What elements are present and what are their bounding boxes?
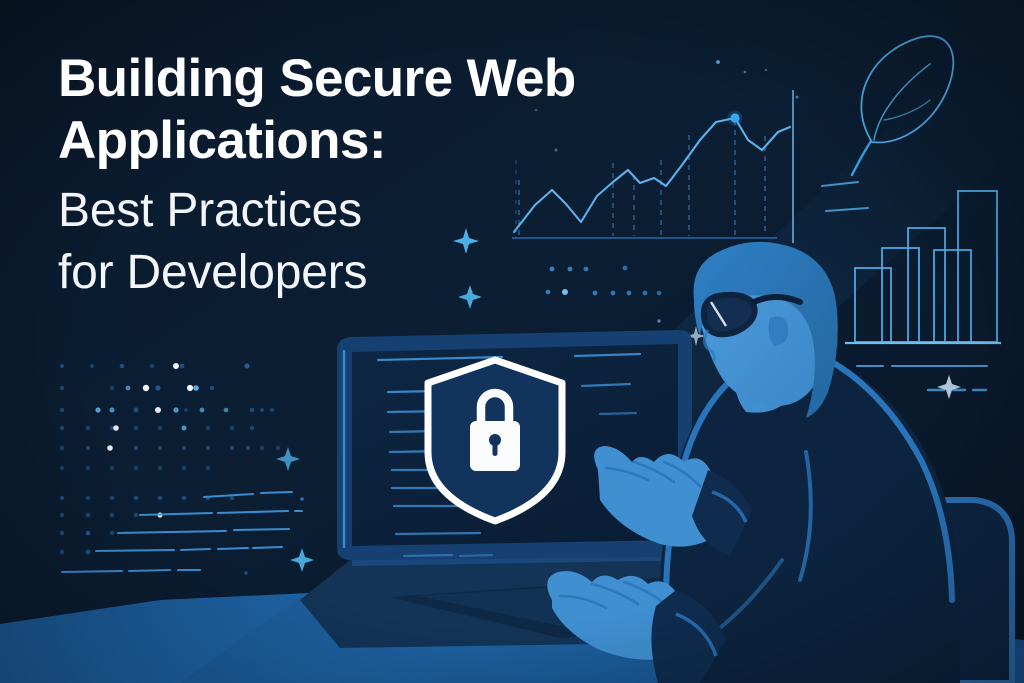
hero-banner: Building Secure Web Applications: Best P… xyxy=(0,0,1024,683)
subheading-line-2: for Developers xyxy=(58,242,678,304)
hero-heading-block: Building Secure Web Applications: Best P… xyxy=(58,46,678,304)
heading-line-2: Applications: xyxy=(58,108,678,174)
heading-line-1: Building Secure Web xyxy=(58,46,678,112)
subheading-line-1: Best Practices xyxy=(58,180,678,242)
